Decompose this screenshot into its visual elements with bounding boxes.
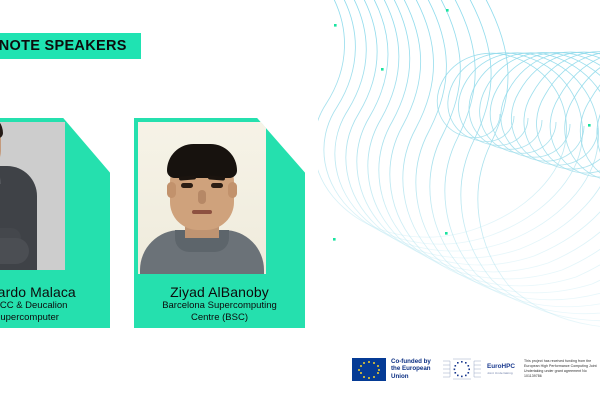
eurohpc-wordmark: EuroHPC Joint Undertaking	[487, 363, 515, 375]
keynote-speakers-banner: KEYNOTE SPEAKERS	[0, 33, 141, 59]
speaker-affiliation-line1: Barcelona Supercomputing	[138, 300, 301, 312]
eu-funding-line2: the European Union	[391, 365, 432, 380]
speaker-affiliation-line2: Centre (BSC)	[138, 312, 301, 324]
speaker-affiliation-line2: Supercomputer	[0, 312, 106, 324]
slide-canvas: KEYNOTE SPEAKERS	[0, 0, 600, 400]
speaker-card[interactable]: Ricardo Malaca MACC & Deucalion Supercom…	[0, 118, 110, 328]
eurohpc-subtitle: Joint Undertaking	[487, 371, 515, 375]
page-title: KEYNOTE SPEAKERS	[0, 39, 127, 54]
speaker-affiliation-line1: MACC & Deucalion	[0, 300, 106, 312]
funding-footer: Co-funded by the European Union	[352, 357, 600, 381]
funding-disclaimer: This project has received funding from t…	[524, 359, 600, 379]
speaker-photo	[0, 122, 65, 270]
speaker-name: Ricardo Malaca	[0, 284, 106, 300]
speaker-caption: Ziyad AlBanoby Barcelona Supercomputing …	[134, 284, 305, 324]
contour-pattern-decoration	[318, 0, 600, 352]
speaker-caption: Ricardo Malaca MACC & Deucalion Supercom…	[0, 284, 110, 324]
eurohpc-circuit-stars-icon	[441, 357, 483, 381]
speaker-card[interactable]: Ziyad AlBanoby Barcelona Supercomputing …	[134, 118, 305, 328]
eu-cofunding-logo: Co-funded by the European Union	[352, 358, 432, 381]
eu-funding-text: Co-funded by the European Union	[391, 358, 432, 381]
eurohpc-name: EuroHPC	[487, 363, 515, 371]
eu-funding-line1: Co-funded by	[391, 358, 432, 366]
eurohpc-logo: EuroHPC Joint Undertaking	[441, 357, 515, 381]
eu-flag-icon	[352, 358, 386, 381]
speaker-name: Ziyad AlBanoby	[138, 284, 301, 300]
speaker-photo	[138, 122, 266, 274]
speaker-card-list: Ricardo Malaca MACC & Deucalion Supercom…	[0, 118, 320, 332]
